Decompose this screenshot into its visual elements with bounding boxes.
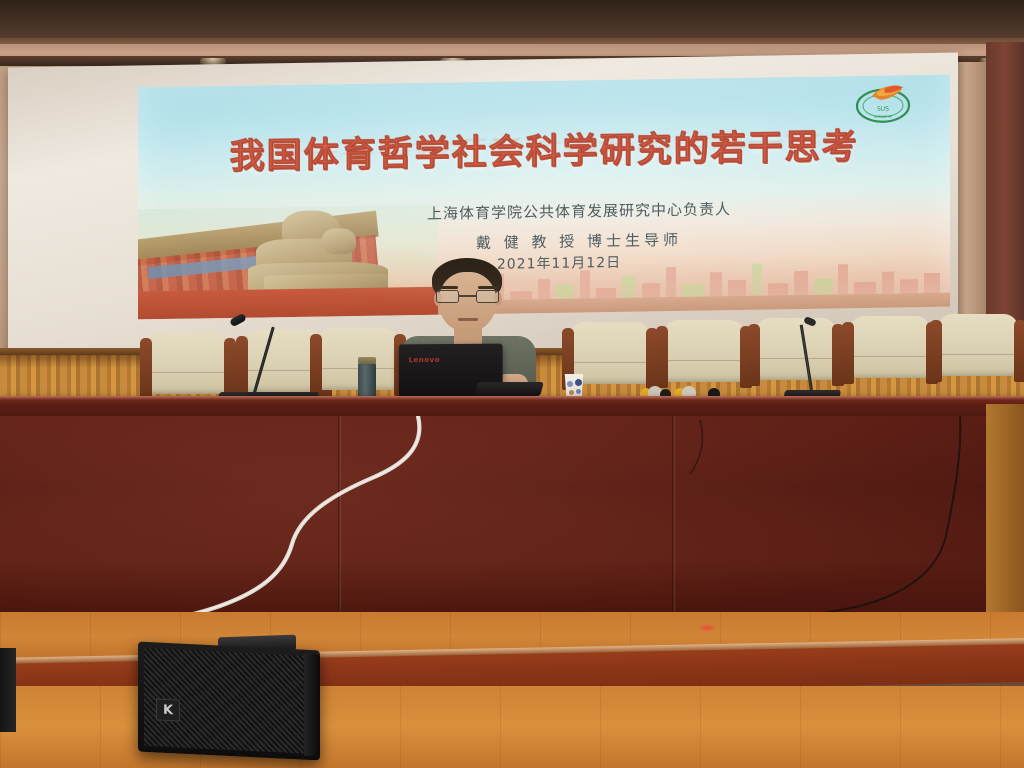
conference-chair	[842, 316, 938, 394]
podium-panel-seam	[672, 416, 675, 621]
podium-front-panel	[0, 416, 1024, 621]
conference-chair	[930, 314, 1024, 392]
svg-text:SUS: SUS	[877, 106, 889, 113]
laser-pointer-dot	[700, 626, 714, 630]
podium-side-wood	[986, 404, 1024, 624]
laptop-brand-label: Lenovo	[409, 356, 440, 364]
gooseneck-microphone	[218, 312, 288, 404]
podium-desk-highlight	[0, 396, 1024, 400]
gooseneck-microphone	[780, 318, 844, 404]
laptop-keyboard-base	[474, 382, 543, 396]
speaker-badge-label: K	[163, 702, 173, 717]
thermos-flask	[358, 362, 376, 400]
ceiling	[0, 0, 1024, 42]
speaker-brand-badge: K	[156, 698, 180, 721]
projected-slide: SUS SHANGHAI 我国体育哲学社会科学研究的若干思考 我国体育哲学社会科…	[138, 75, 950, 320]
slide-title: 我国体育哲学社会科学研究的若干思考	[138, 117, 950, 181]
lecture-hall-photograph: SUS SHANGHAI 我国体育哲学社会科学研究的若干思考 我国体育哲学社会科…	[0, 0, 1024, 768]
speaker-side-panel	[304, 654, 320, 757]
eyeglasses-icon	[436, 290, 499, 304]
podium-panel-seam	[338, 416, 341, 621]
stage-monitor-speaker: K	[138, 642, 320, 761]
monitor-left-edge	[0, 648, 16, 732]
slide-subtitle-affiliation: 上海体育学院公共体育发展研究中心负责人	[138, 195, 950, 229]
